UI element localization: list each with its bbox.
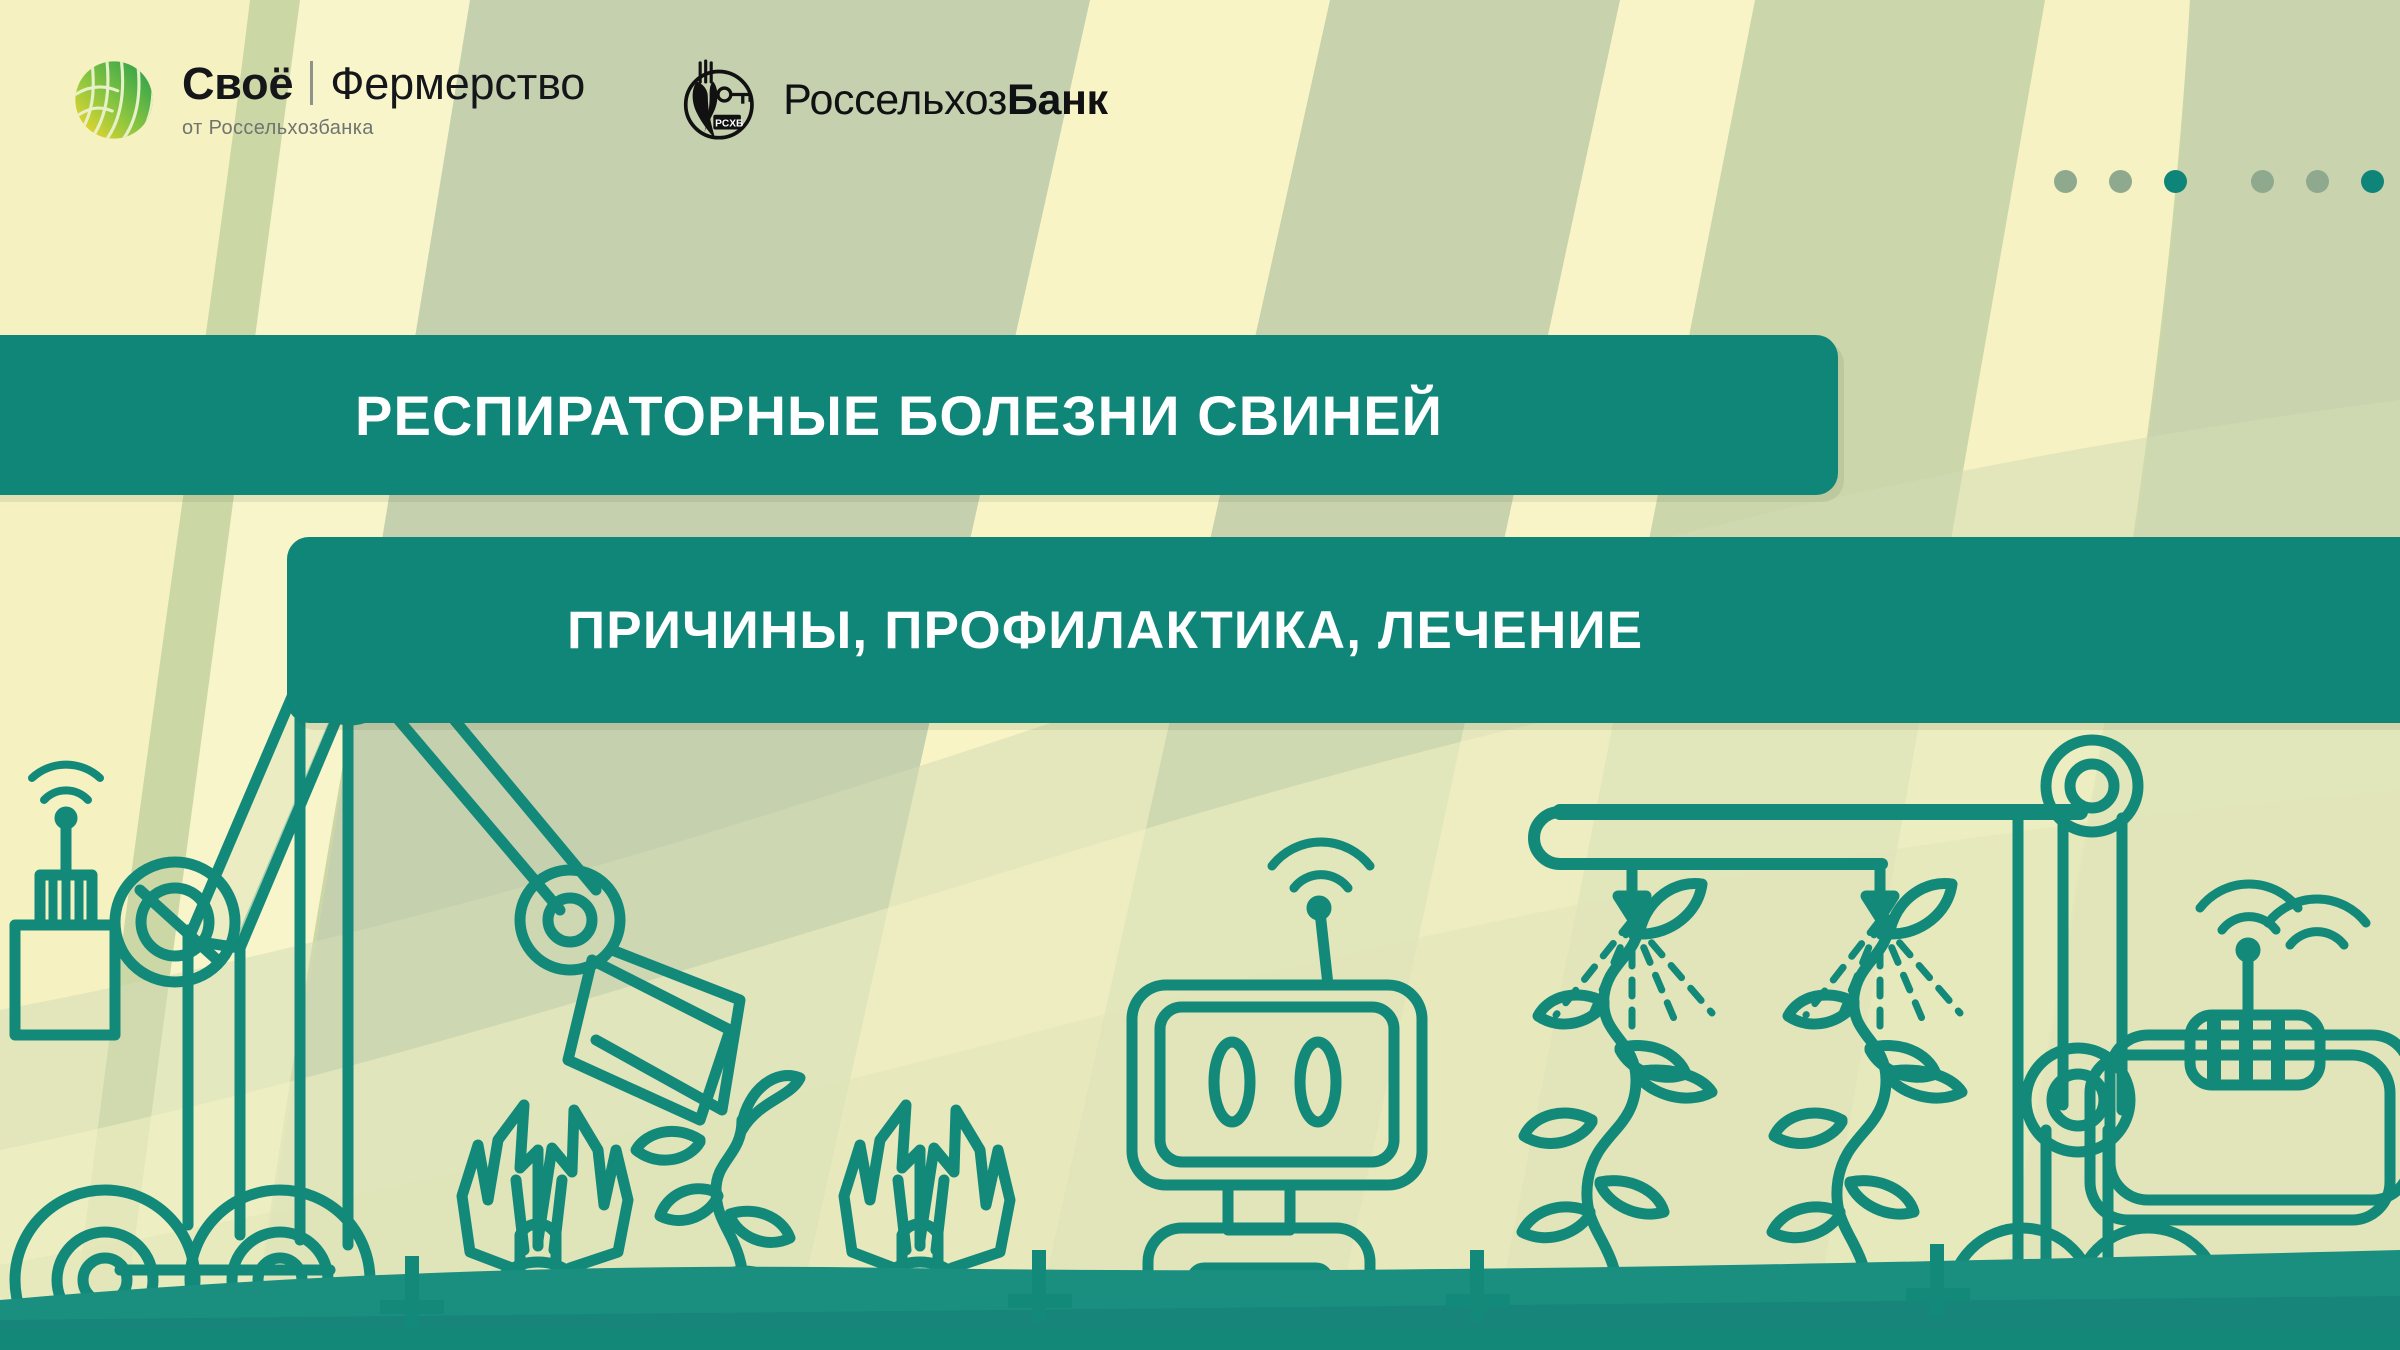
dot-3[interactable] xyxy=(2164,170,2187,193)
rosselkhozbank-logo[interactable]: PCXБ РоссельхозБанк xyxy=(671,54,1108,146)
slide-canvas: Своё Фермерство от Россельхозбанка xyxy=(0,0,2400,1350)
brand-name: Своё xyxy=(182,61,293,106)
dot-1[interactable] xyxy=(2054,170,2077,193)
title-banner-primary: РЕСПИРАТОРНЫЕ БОЛЕЗНИ СВИНЕЙ xyxy=(0,335,1838,495)
page-title: РЕСПИРАТОРНЫЕ БОЛЕЗНИ СВИНЕЙ xyxy=(355,383,1443,448)
wheat-key-circle-icon: PCXБ xyxy=(671,54,763,146)
brand-word: Фермерство xyxy=(330,61,585,106)
brand-subtitle: от Россельхозбанка xyxy=(182,117,585,140)
dot-5[interactable] xyxy=(2306,170,2329,193)
bank-name-prefix: Россельхоз xyxy=(783,76,1007,124)
page-subtitle: ПРИЧИНЫ, ПРОФИЛАКТИКА, ЛЕЧЕНИЕ xyxy=(567,600,1643,661)
dot-2[interactable] xyxy=(2109,170,2132,193)
bank-name-suffix: Банк xyxy=(1007,76,1108,124)
dot-6[interactable] xyxy=(2361,170,2384,193)
brand-divider xyxy=(310,61,313,105)
dot-4[interactable] xyxy=(2251,170,2274,193)
title-banner-secondary: ПРИЧИНЫ, ПРОФИЛАКТИКА, ЛЕЧЕНИЕ xyxy=(287,537,2400,723)
slide-indicator-dots[interactable] xyxy=(2054,170,2384,193)
svoe-fermerstvo-logo[interactable]: Своё Фермерство от Россельхозбанка xyxy=(68,54,585,146)
sphere-leaf-logo-icon xyxy=(68,54,160,146)
bank-name: РоссельхозБанк xyxy=(783,76,1108,125)
header-logo-bar: Своё Фермерство от Россельхозбанка xyxy=(0,0,2400,200)
svg-text:PCXБ: PCXБ xyxy=(715,119,743,130)
